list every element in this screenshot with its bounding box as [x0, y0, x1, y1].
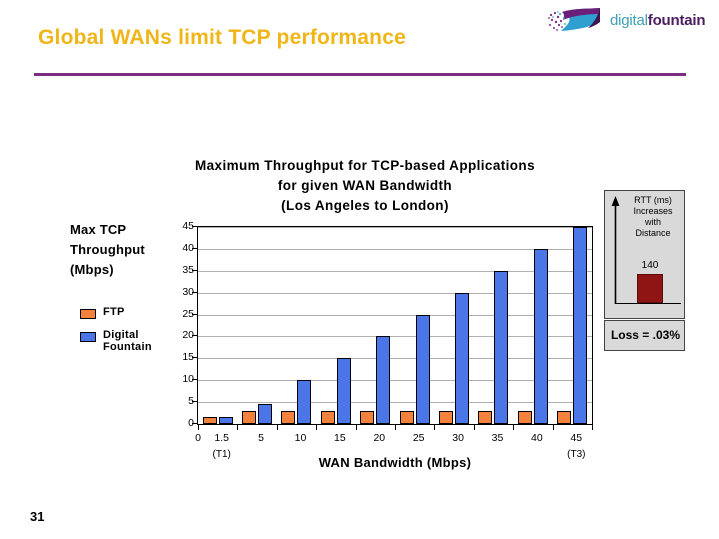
x-axis-tick-label: 35 [478, 432, 518, 444]
bar-group [553, 227, 592, 424]
chart-plot-area [197, 226, 593, 425]
bar-digital-fountain [416, 315, 430, 424]
rtt-caption-line-2: Increases [621, 206, 685, 217]
y-axis-tick-label: 25 [160, 309, 194, 319]
x-axis-tick-label: 45 [556, 432, 596, 444]
rtt-baseline [615, 303, 681, 304]
loss-panel: Loss = .03% [604, 320, 685, 351]
x-axis-tick-mark [434, 425, 435, 430]
chart-title-line-2: for given WAN Bandwidth [150, 176, 580, 196]
y-axis-tick-label: 20 [160, 330, 194, 340]
slide-page-number: 31 [30, 509, 44, 524]
rtt-value-label: 140 [629, 260, 671, 271]
y-axis-tick-label: 0 [160, 418, 194, 428]
x-axis-tick-mark [513, 425, 514, 430]
y-axis-tick-label: 15 [160, 352, 194, 362]
bar-group [237, 227, 276, 424]
x-axis-tick-label: 40 [517, 432, 557, 444]
y-axis-tick-label: 30 [160, 287, 194, 297]
rtt-caption-line-1: RTT (ms) [621, 195, 685, 206]
bar-ftp [557, 411, 571, 424]
rtt-panel: RTT (ms) Increases with Distance 140 [604, 190, 685, 319]
chart-bars [198, 227, 592, 424]
bar-group [434, 227, 473, 424]
bar-ftp [400, 411, 414, 424]
x-axis-tick-mark [237, 425, 238, 430]
x-axis-tick-mark [316, 425, 317, 430]
bar-group [474, 227, 513, 424]
x-axis-tick-label: 25 [399, 432, 439, 444]
x-axis-tick-labels: 01.551015202530354045 [177, 432, 613, 446]
x-axis-tick-mark [198, 425, 199, 430]
x-axis-tick-mark [277, 425, 278, 430]
bar-ftp [203, 417, 217, 424]
bar-group [198, 227, 237, 424]
bar-digital-fountain [534, 249, 548, 424]
bar-digital-fountain [219, 417, 233, 424]
x-axis-title: WAN Bandwidth (Mbps) [195, 455, 595, 470]
legend-label-df-line-1: Digital [103, 329, 152, 341]
x-axis-tick-label: 15 [320, 432, 360, 444]
x-axis-tick-mark [553, 425, 554, 430]
x-axis-tick-mark [356, 425, 357, 430]
rtt-caption: RTT (ms) Increases with Distance [621, 195, 685, 239]
bar-digital-fountain [455, 293, 469, 424]
x-axis-tick-label: 20 [359, 432, 399, 444]
x-axis-tick-mark [592, 425, 593, 430]
bar-group [395, 227, 434, 424]
y-axis-tick-label: 40 [160, 243, 194, 253]
rtt-caption-line-4: Distance [621, 228, 685, 239]
bar-digital-fountain [337, 358, 351, 424]
y-axis-tick-labels: 051015202530354045 [160, 220, 194, 432]
y-axis-tick-label: 35 [160, 265, 194, 275]
legend-swatch-digital-fountain [80, 332, 96, 342]
loss-label: Loss = .03% [605, 328, 686, 342]
side-annotation-panel: RTT (ms) Increases with Distance 140 Los… [604, 190, 685, 351]
bar-ftp [439, 411, 453, 424]
brand-logo: digitalfountain [548, 4, 710, 38]
page-title: Global WANs limit TCP performance [38, 26, 406, 50]
x-axis-tick-label: 1.5 [202, 432, 242, 444]
legend-swatch-ftp [80, 309, 96, 319]
logo-wordmark: digitalfountain [610, 12, 705, 29]
bar-ftp [321, 411, 335, 424]
rtt-bar [637, 274, 663, 303]
legend-label-digital-fountain: Digital Fountain [103, 329, 152, 353]
y-axis-tick-label: 45 [160, 221, 194, 231]
bar-ftp [281, 411, 295, 424]
legend-label-ftp: FTP [103, 306, 125, 318]
x-axis-tick-marks [197, 425, 593, 430]
bar-digital-fountain [258, 404, 272, 424]
chart-title: Maximum Throughput for TCP-based Applica… [150, 156, 580, 216]
bar-ftp [360, 411, 374, 424]
rtt-caption-line-3: with [621, 217, 685, 228]
logo-word-fountain: fountain [648, 12, 706, 29]
title-divider [34, 73, 686, 76]
digitalfountain-flag-icon [548, 6, 604, 36]
bar-group [277, 227, 316, 424]
chart-title-line-1: Maximum Throughput for TCP-based Applica… [150, 156, 580, 176]
bar-digital-fountain [573, 227, 587, 424]
x-axis-tick-label: 10 [281, 432, 321, 444]
y-axis-tick-label: 10 [160, 374, 194, 384]
bar-digital-fountain [297, 380, 311, 424]
logo-word-digital: digital [610, 12, 648, 29]
x-axis-tick-mark [474, 425, 475, 430]
bar-group [356, 227, 395, 424]
bar-ftp [242, 411, 256, 424]
chart-title-line-3: (Los Angeles to London) [150, 196, 580, 216]
bar-group [316, 227, 355, 424]
bar-group [513, 227, 552, 424]
legend-label-df-line-2: Fountain [103, 341, 152, 353]
bar-digital-fountain [376, 336, 390, 424]
x-axis-tick-mark [395, 425, 396, 430]
bar-ftp [478, 411, 492, 424]
x-axis-tick-label: 30 [438, 432, 478, 444]
x-axis-tick-label: 5 [241, 432, 281, 444]
bar-digital-fountain [494, 271, 508, 424]
up-arrow-icon [611, 196, 620, 304]
bar-ftp [518, 411, 532, 424]
y-axis-tick-label: 5 [160, 396, 194, 406]
